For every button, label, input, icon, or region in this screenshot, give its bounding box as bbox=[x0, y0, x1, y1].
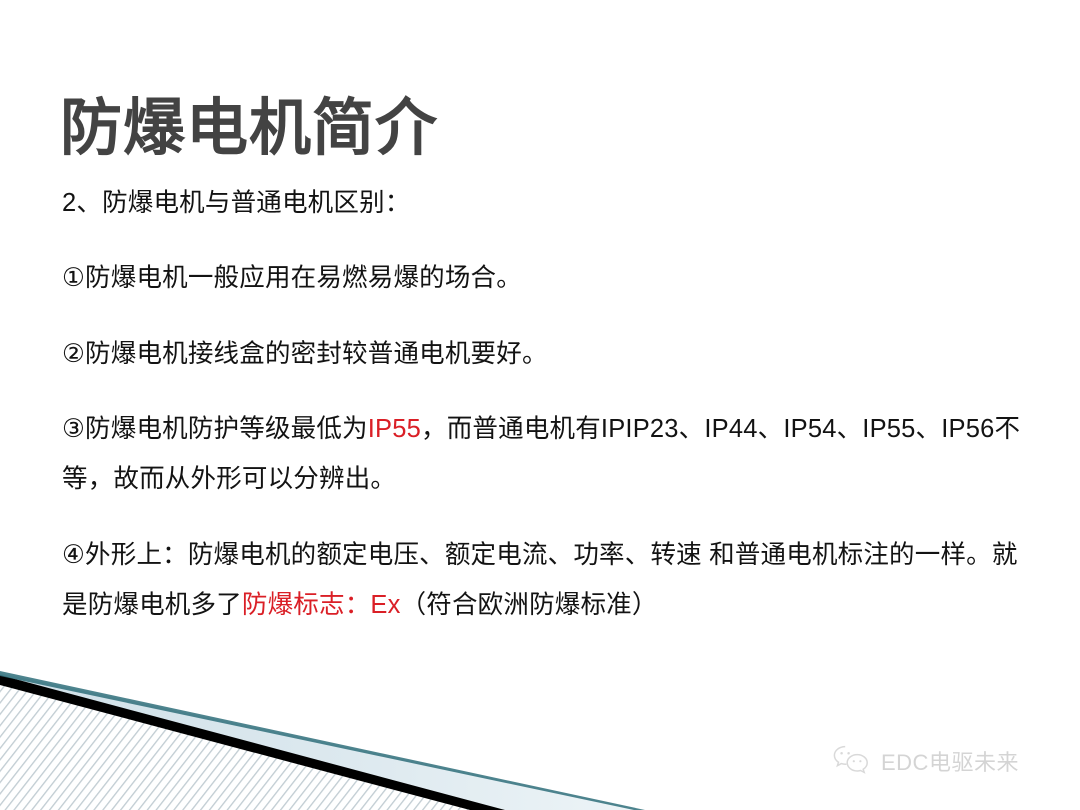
wedge-svg bbox=[0, 645, 700, 810]
wedge-pale-band bbox=[0, 673, 640, 810]
body-line-item-2: ②防爆电机接线盒的密封较普通电机要好。 bbox=[62, 329, 1022, 379]
item-4-highlight-ex-mark: 防爆标志：Ex bbox=[242, 591, 401, 619]
item-4-text-after: （符合欧洲防爆标准） bbox=[401, 591, 658, 619]
body-line-item-1: ①防爆电机一般应用在易燃易爆的场合。 bbox=[62, 253, 1022, 303]
body-line-item-4: ④外形上：防爆电机的额定电压、额定电流、功率、转速 和普通电机标注的一样。就是防… bbox=[62, 530, 1022, 630]
body-line-intro: 2、防爆电机与普通电机区别： bbox=[62, 178, 1022, 228]
watermark-label: EDC电驱未来 bbox=[881, 745, 1019, 777]
wechat-icon bbox=[832, 744, 872, 778]
decorative-wedge-graphic bbox=[0, 645, 700, 810]
wedge-striped-field bbox=[0, 685, 470, 810]
body-content: 2、防爆电机与普通电机区别： ①防爆电机一般应用在易燃易爆的场合。 ②防爆电机接… bbox=[62, 152, 1022, 655]
body-line-item-3: ③防爆电机防护等级最低为IP55，而普通电机有IPIP23、IP44、IP54、… bbox=[62, 404, 1022, 504]
wedge-edge-line bbox=[0, 671, 645, 810]
slide-canvas: 防爆电机简介 2、防爆电机与普通电机区别： ①防爆电机一般应用在易燃易爆的场合。… bbox=[0, 0, 1080, 810]
item-3-text-before: ③防爆电机防护等级最低为 bbox=[62, 415, 368, 443]
item-3-highlight-ip55: IP55 bbox=[368, 415, 421, 443]
watermark: EDC电驱未来 bbox=[832, 744, 1019, 778]
wedge-black-band bbox=[0, 675, 505, 810]
